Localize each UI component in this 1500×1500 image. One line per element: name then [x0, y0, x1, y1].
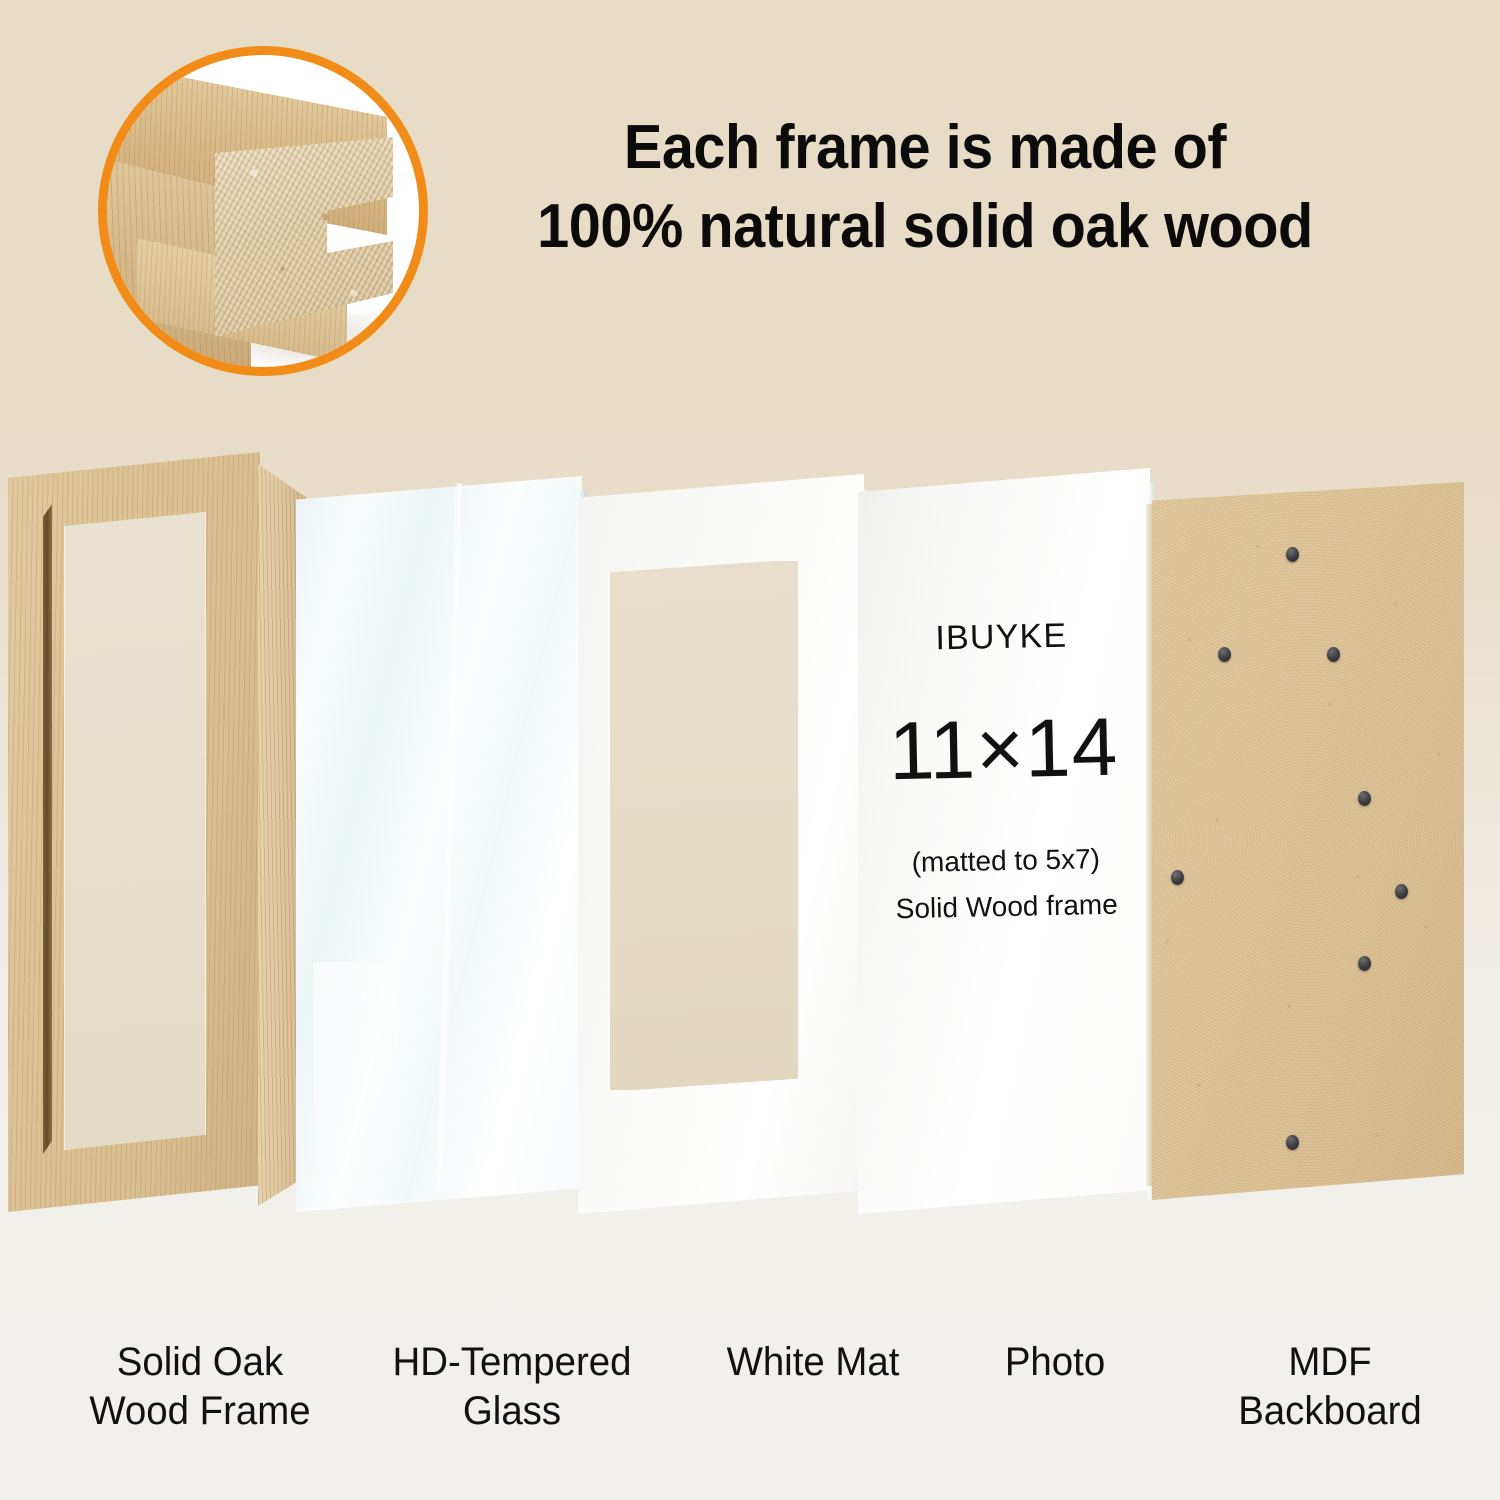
page-title-line-2: 100% natural solid oak wood: [493, 187, 1358, 266]
photo-print-text: IBUYKE 11×14 (matted to 5x7) Solid Wood …: [855, 615, 1153, 926]
oak-frame-opening: [64, 512, 206, 1150]
backboard-fastener-tab: [1395, 884, 1408, 899]
layer-solid-oak-wood-frame: [8, 452, 300, 1212]
backboard-fastener-tab: [1286, 1135, 1299, 1150]
brand-name: IBUYKE: [855, 615, 1148, 660]
backboard-fastener-tab: [1358, 791, 1371, 806]
caption-line-1: HD-Tempered: [358, 1338, 665, 1387]
caption-line-2: Wood Frame: [46, 1387, 353, 1436]
backboard-fastener-tab: [1327, 647, 1340, 662]
layer-white-mat: [578, 474, 864, 1214]
page-title: Each frame is made of 100% natural solid…: [493, 108, 1358, 267]
oak-frame-rabbet-groove: [43, 504, 52, 1154]
caption-line-1: White Mat: [674, 1338, 952, 1387]
caption-solid-oak-wood-frame: Solid Oak Wood Frame: [46, 1338, 353, 1436]
caption-line-2: Backboard: [1186, 1387, 1474, 1436]
layer-caption-row: Solid Oak Wood Frame HD-Tempered Glass W…: [0, 1338, 1500, 1478]
caption-line-2: Glass: [358, 1387, 665, 1436]
caption-line-1: MDF: [1186, 1338, 1474, 1387]
infographic-canvas: Each frame is made of 100% natural solid…: [0, 0, 1500, 1500]
backboard-fastener-tab: [1218, 647, 1231, 662]
glass-reflection-patch: [313, 962, 399, 1198]
caption-photo: Photo: [935, 1338, 1175, 1387]
page-title-line-1: Each frame is made of: [493, 108, 1358, 187]
frame-size: 11×14: [857, 700, 1151, 800]
mat-window-opening: [608, 559, 800, 1092]
layer-mdf-backboard: [1152, 482, 1464, 1200]
oak-profile-badge: [98, 46, 428, 376]
backboard-fastener-tab: [1358, 956, 1371, 971]
caption-hd-tempered-glass: HD-Tempered Glass: [358, 1338, 665, 1436]
caption-line-1: Photo: [935, 1338, 1175, 1387]
backboard-fastener-tab: [1171, 870, 1184, 885]
caption-mdf-backboard: MDF Backboard: [1186, 1338, 1474, 1436]
mdf-board: [1152, 482, 1464, 1200]
mdf-side-edge: [1146, 503, 1153, 1185]
layer-hd-tempered-glass: [296, 476, 582, 1212]
backboard-fastener-tab: [1286, 547, 1299, 562]
caption-white-mat: White Mat: [674, 1338, 952, 1387]
wood-end-grain-profile-icon: [215, 137, 393, 337]
layer-photo: IBUYKE 11×14 (matted to 5x7) Solid Wood …: [858, 468, 1150, 1214]
matted-note: (matted to 5x7): [860, 842, 1153, 880]
material-note: Solid Wood frame: [860, 888, 1153, 926]
caption-line-1: Solid Oak: [46, 1338, 353, 1387]
